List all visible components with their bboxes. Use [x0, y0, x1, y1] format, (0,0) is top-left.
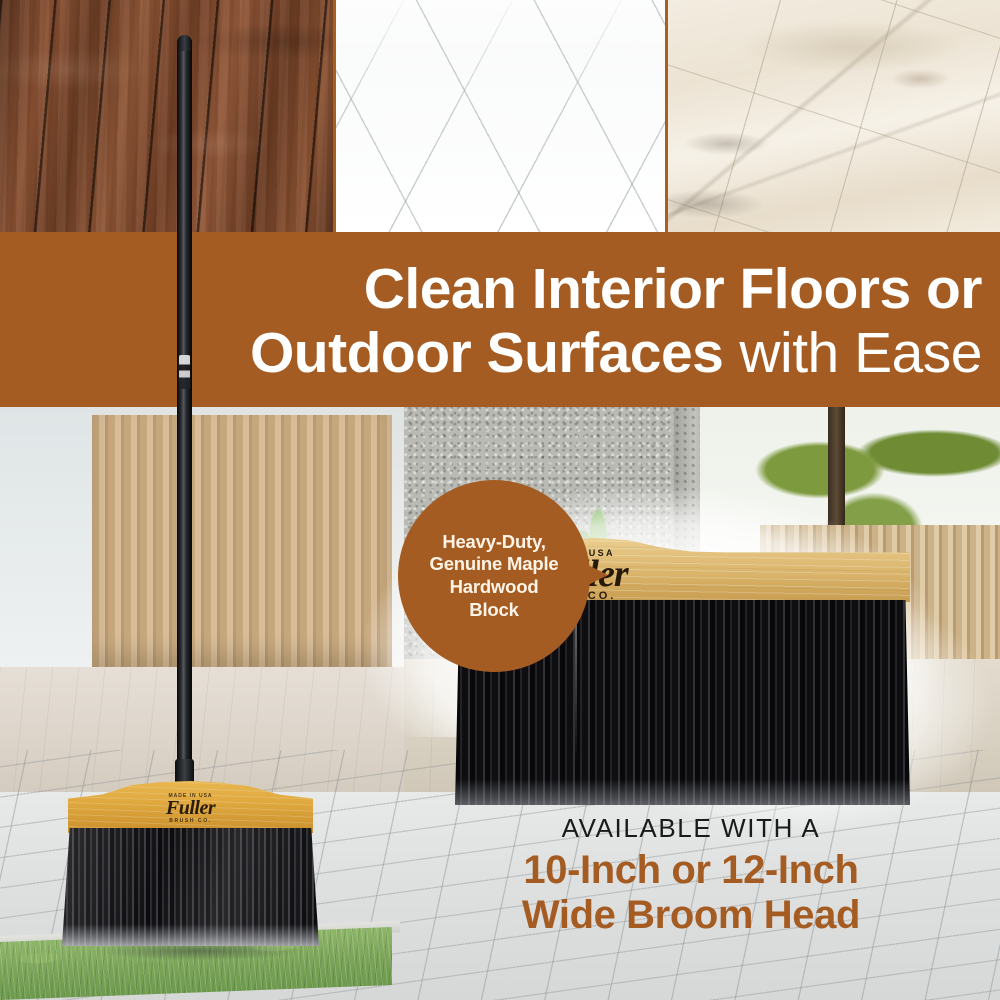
- surface-panel-tile: [335, 0, 667, 232]
- feature-callout-badge: Heavy-Duty, Genuine Maple Hardwood Block: [398, 480, 590, 672]
- panel-divider-right: [665, 0, 668, 232]
- callout-text-group: Heavy-Duty, Genuine Maple Hardwood Block: [398, 480, 590, 672]
- full-broom-product: MADE IN USA Fuller BRUSH CO.: [150, 35, 360, 950]
- broom-handle-label: [179, 355, 190, 389]
- callout-line-4: Block: [469, 599, 518, 622]
- size-promo-line-1: 10-Inch or 12-Inch: [522, 848, 860, 893]
- callout-line-2: Genuine Maple: [430, 553, 559, 576]
- surface-panel-marble: [667, 0, 1000, 232]
- broom-handle-tip: [177, 35, 192, 51]
- headline-line-2: Outdoor Surfaceswith Ease: [0, 324, 982, 382]
- size-promo-kicker: AVAILABLE WITH A: [522, 813, 860, 844]
- tile-haze-overlay: [335, 0, 667, 232]
- broom-handle: [177, 35, 192, 775]
- headline-line-1: Clean Interior Floors or: [0, 260, 982, 318]
- size-availability-promo: AVAILABLE WITH A 10-Inch or 12-Inch Wide…: [522, 813, 860, 938]
- bristle-sheen-overlay: [62, 828, 319, 946]
- callout-line-3: Hardwood: [450, 576, 539, 599]
- size-promo-line-2: Wide Broom Head: [522, 893, 860, 938]
- headline-line-2-light: with Ease: [739, 321, 982, 385]
- headline-text-group: Clean Interior Floors or Outdoor Surface…: [0, 260, 982, 382]
- callout-line-1: Heavy-Duty,: [442, 531, 545, 554]
- product-marketing-image: Clean Interior Floors or Outdoor Surface…: [0, 0, 1000, 1000]
